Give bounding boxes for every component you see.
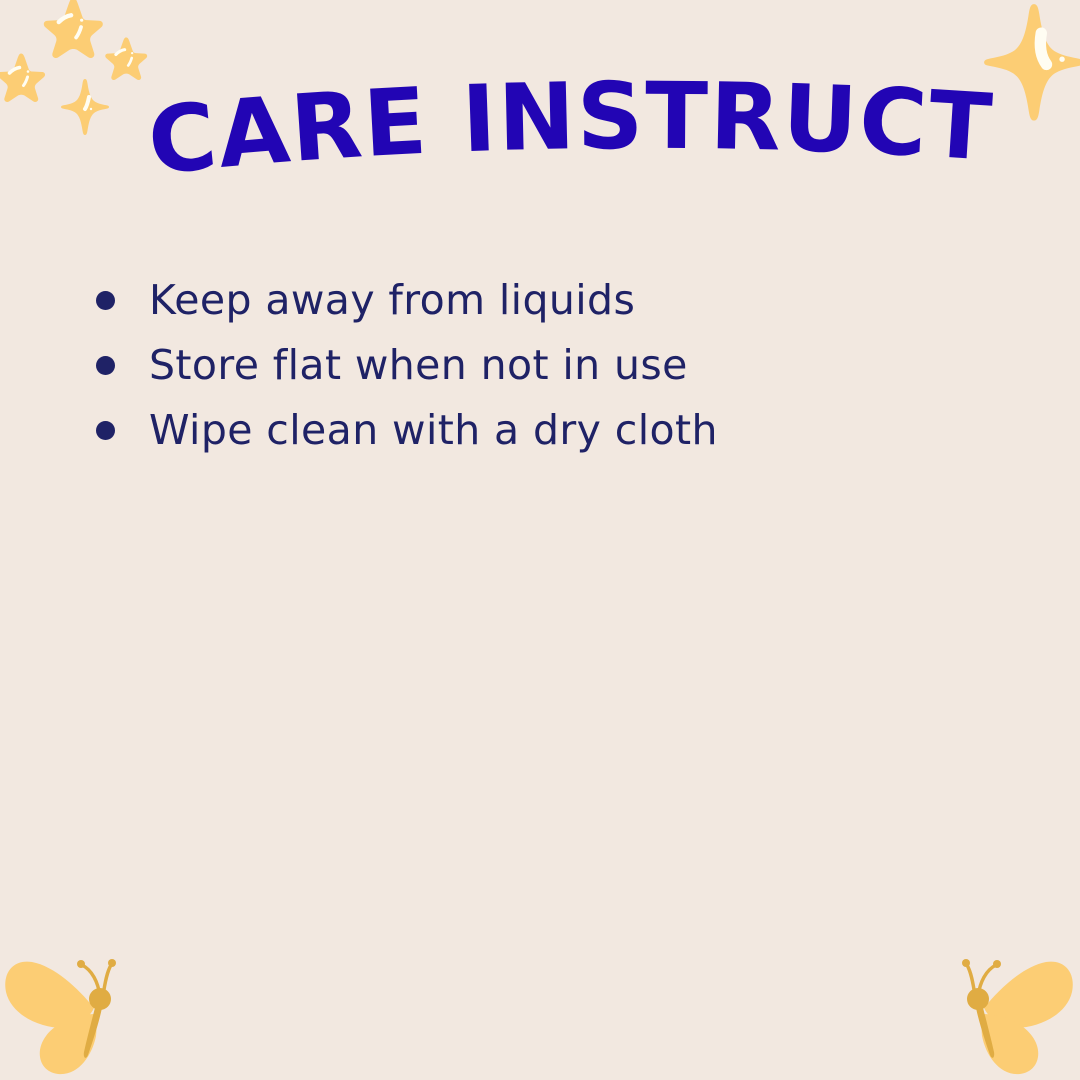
butterfly-icon	[944, 944, 1070, 1076]
sparkle-icon	[982, 2, 1080, 120]
star-icon	[104, 36, 148, 80]
care-instructions-card: CARE INSTRUCTIONS Keep away from liquids…	[0, 0, 1080, 1080]
bullet-point-icon	[96, 291, 115, 310]
page-title: CARE INSTRUCTIONS	[0, 52, 1080, 182]
star-icon	[42, 0, 104, 58]
list-item-label: Wipe clean with a dry cloth	[149, 410, 718, 451]
title-textpath: CARE INSTRUCTIONS	[0, 0, 996, 196]
title-svg: CARE INSTRUCTIONS	[0, 52, 1080, 182]
star-icon	[0, 52, 46, 104]
title-text: CARE INSTRUCTIONS	[0, 0, 996, 196]
instructions-list: Keep away from liquids Store flat when n…	[96, 268, 956, 463]
list-item-label: Store flat when not in use	[149, 345, 688, 386]
butterfly-icon	[8, 944, 134, 1076]
list-item-label: Keep away from liquids	[149, 280, 635, 321]
bullet-point-icon	[96, 421, 115, 440]
list-item: Keep away from liquids	[96, 268, 956, 333]
sparkle-icon	[60, 78, 110, 134]
list-item: Wipe clean with a dry cloth	[96, 398, 956, 463]
bullet-point-icon	[96, 356, 115, 375]
list-item: Store flat when not in use	[96, 333, 956, 398]
